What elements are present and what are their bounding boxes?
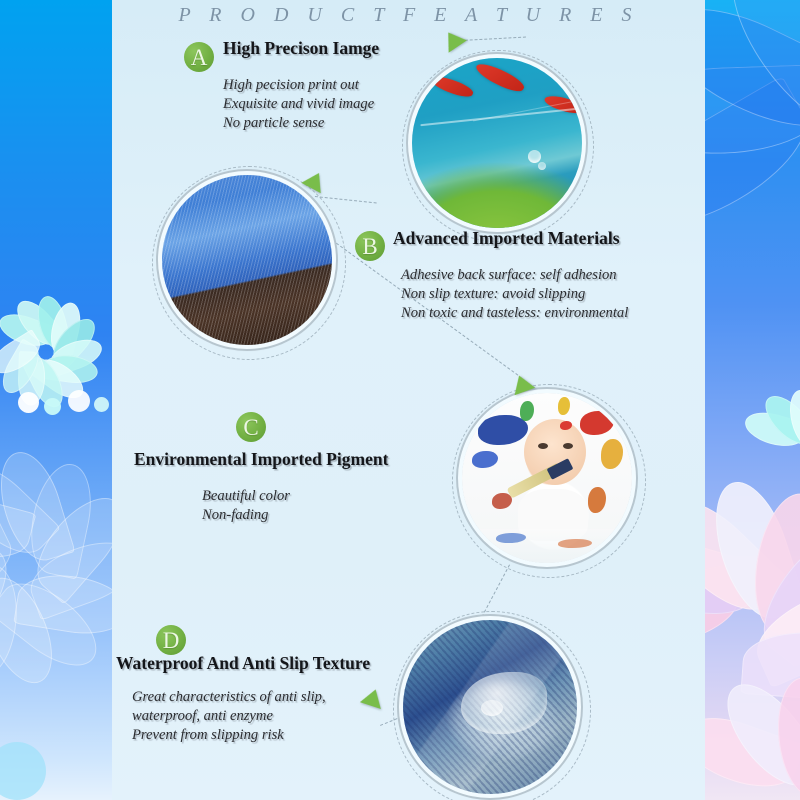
connector-a-to-photo (460, 37, 526, 41)
badge-b: B (355, 231, 385, 261)
heading-a: High Precison Iamge (223, 38, 379, 59)
heading-d: Waterproof And Anti Slip Texture (116, 653, 370, 674)
body-d-line-1: Great characteristics of anti slip, (132, 688, 326, 707)
arrow-to-photo-a (439, 26, 467, 52)
right-decorative-strip (705, 0, 800, 800)
photo-b (162, 175, 332, 345)
body-a-line-3: No particle sense (223, 114, 374, 133)
blue-mesh-fabric-photo (162, 175, 332, 345)
page-title: P R O D U C T F E A T U R E S (112, 4, 705, 27)
badge-d: D (156, 625, 186, 655)
photo-c (462, 393, 632, 563)
body-d-line-3: Prevent from slipping risk (132, 726, 326, 745)
body-b-line-1: Adhesive back surface: self adhesion (401, 266, 628, 285)
baby-painting-photo (462, 393, 632, 563)
infographic-canvas: P R O D U C T F E A T U R E S A High Pre… (0, 0, 800, 800)
badge-a: A (184, 42, 214, 72)
water-droplet-texture-photo (403, 620, 577, 794)
body-d: Great characteristics of anti slip, wate… (132, 688, 326, 745)
body-a-line-2: Exquisite and vivid image (223, 95, 374, 114)
body-c-line-1: Beautiful color (202, 487, 290, 506)
left-decorative-strip (0, 0, 112, 800)
body-c-line-2: Non-fading (202, 506, 290, 525)
photo-a (412, 58, 582, 228)
body-d-line-2: waterproof, anti enzyme (132, 707, 326, 726)
corner-bubble (0, 742, 46, 800)
koi-pond-print-photo (412, 58, 582, 228)
body-a: High pecision print out Exquisite and vi… (223, 76, 374, 133)
body-b: Adhesive back surface: self adhesion Non… (401, 266, 628, 323)
arrow-to-photo-d (360, 686, 386, 709)
heading-c: Environmental Imported Pigment (134, 449, 388, 470)
photo-d (403, 620, 577, 794)
body-a-line-1: High pecision print out (223, 76, 374, 95)
body-b-line-2: Non slip texture: avoid slipping (401, 285, 628, 304)
heading-b: Advanced Imported Materials (393, 228, 620, 249)
body-c: Beautiful color Non-fading (202, 487, 290, 525)
badge-c: C (236, 412, 266, 442)
body-b-line-3: Non toxic and tasteless: environmental (401, 304, 628, 323)
